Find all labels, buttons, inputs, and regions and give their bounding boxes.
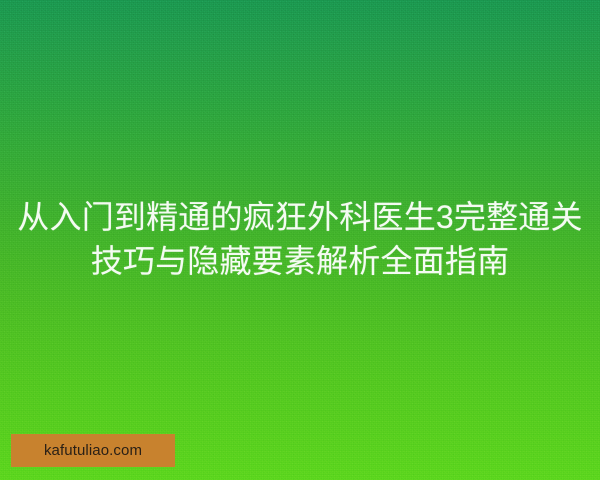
title-banner: 从入门到精通的疯狂外科医生3完整通关 技巧与隐藏要素解析全面指南 kafutul… bbox=[0, 0, 600, 480]
watermark-badge: kafutuliao.com bbox=[11, 434, 175, 467]
watermark-label: kafutuliao.com bbox=[44, 443, 142, 458]
background-gradient bbox=[0, 0, 600, 480]
